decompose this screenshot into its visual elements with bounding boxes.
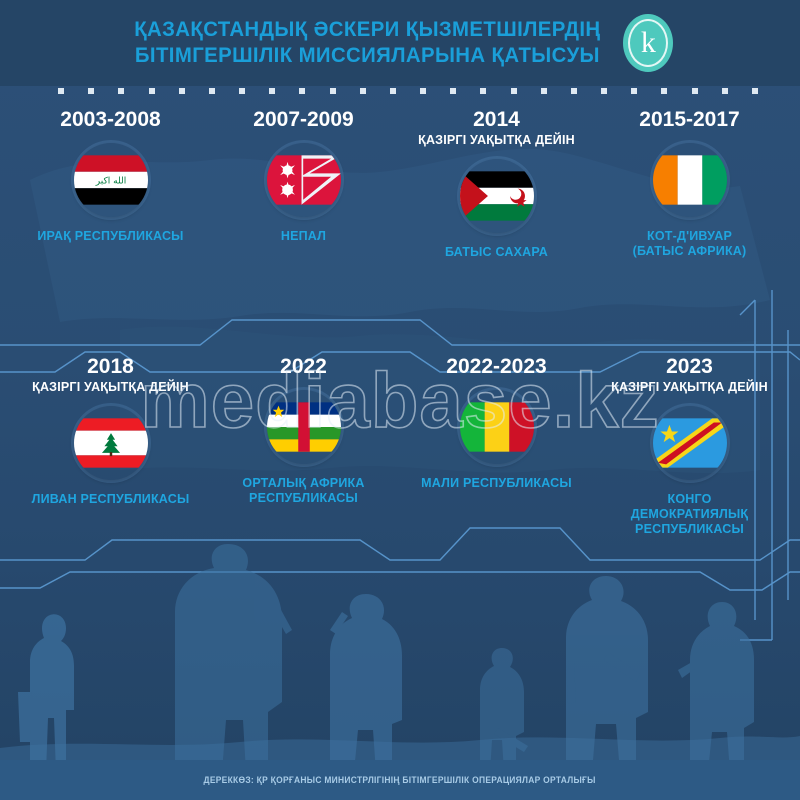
mission-card-nepal: 2007-2009 НЕПАЛ — [207, 108, 400, 260]
mission-card-central-african-republic: 2022 ОРТАЛЫҚ АФРИКА РЕСПУБЛИКАСЫ — [207, 355, 400, 537]
logo-letter: k — [641, 28, 656, 58]
dotted-divider — [58, 88, 758, 95]
mission-country: МАЛИ РЕСПУБЛИКАСЫ — [421, 476, 572, 491]
mission-years: 2014 ҚАЗІРГІ УАҚЫТҚА ДЕЙІН — [418, 108, 575, 148]
mission-years: 2007-2009 — [253, 108, 353, 132]
title-line-1: ҚАЗАҚСТАНДЫҚ ӘСКЕРИ ҚЫЗМЕТШІЛЕРДІҢ — [134, 17, 600, 43]
source-label: ДЕРЕККӨЗ: ҚР ҚОРҒАНЫС МИНИСТРЛІГІНІҢ БІТ… — [204, 775, 596, 785]
western-sahara-flag-icon — [460, 159, 534, 233]
mission-years: 2022 — [280, 355, 327, 379]
mission-card-lebanon: 2018 ҚАЗІРГІ УАҚЫТҚА ДЕЙІН ЛИВАН РЕСПУБЛ… — [14, 355, 207, 537]
mission-years: 2022-2023 — [446, 355, 546, 379]
svg-text:الله اكبر: الله اكبر — [94, 176, 125, 186]
mission-card-cote-divoire: 2015-2017 КОТ-Д'ИВУАР (БАТЫС АФРИКА) — [593, 108, 786, 260]
mission-years: 2018 ҚАЗІРГІ УАҚЫТҚА ДЕЙІН — [32, 355, 189, 395]
missions-grid: 2003-2008 الله اكبر ИРАҚ РЕСПУБЛИКАСЫ 20… — [0, 86, 800, 537]
cote-divoire-flag-icon — [653, 143, 727, 217]
mission-ongoing-note: ҚАЗІРГІ УАҚЫТҚА ДЕЙІН — [611, 379, 768, 395]
mission-ongoing-note: ҚАЗІРГІ УАҚЫТҚА ДЕЙІН — [32, 379, 189, 395]
mali-flag-icon — [460, 390, 534, 464]
mission-years: 2015-2017 — [639, 108, 739, 132]
missions-row-1: 2003-2008 الله اكبر ИРАҚ РЕСПУБЛИКАСЫ 20… — [14, 108, 786, 260]
mission-country: КОНГО ДЕМОКРАТИЯЛЫҚ РЕСПУБЛИКАСЫ — [631, 492, 749, 537]
mission-country: ИРАҚ РЕСПУБЛИКАСЫ — [37, 229, 183, 244]
dr-congo-flag-icon — [653, 406, 727, 480]
mission-card-iraq: 2003-2008 الله اكبر ИРАҚ РЕСПУБЛИКАСЫ — [14, 108, 207, 260]
mission-years: 2023 ҚАЗІРГІ УАҚЫТҚА ДЕЙІН — [611, 355, 768, 395]
mission-country: КОТ-Д'ИВУАР (БАТЫС АФРИКА) — [633, 229, 747, 259]
mission-ongoing-note: ҚАЗІРГІ УАҚЫТҚА ДЕЙІН — [418, 132, 575, 148]
mission-country: НЕПАЛ — [281, 229, 326, 244]
nepal-flag-icon — [267, 143, 341, 217]
mission-country: ОРТАЛЫҚ АФРИКА РЕСПУБЛИКАСЫ — [242, 476, 364, 506]
mission-card-mali: 2022-2023 МАЛИ РЕСПУБЛИКАСЫ — [400, 355, 593, 537]
footer-band: ДЕРЕККӨЗ: ҚР ҚОРҒАНЫС МИНИСТРЛІГІНІҢ БІТ… — [0, 760, 800, 800]
mission-country: БАТЫС САХАРА — [445, 245, 548, 260]
iraq-flag-icon: الله اكبر — [74, 143, 148, 217]
mission-years: 2003-2008 — [60, 108, 160, 132]
page-title: ҚАЗАҚСТАНДЫҚ ӘСКЕРИ ҚЫЗМЕТШІЛЕРДІҢ БІТІМ… — [127, 17, 608, 69]
mission-card-western-sahara: 2014 ҚАЗІРГІ УАҚЫТҚА ДЕЙІН БАТЫС САХАРА — [400, 108, 593, 260]
header-band: ҚАЗАҚСТАНДЫҚ ӘСКЕРИ ҚЫЗМЕТШІЛЕРДІҢ БІТІМ… — [0, 0, 800, 86]
missions-row-2: 2018 ҚАЗІРГІ УАҚЫТҚА ДЕЙІН ЛИВАН РЕСПУБЛ… — [14, 355, 786, 537]
infographic-poster: ҚАЗАҚСТАНДЫҚ ӘСКЕРИ ҚЫЗМЕТШІЛЕРДІҢ БІТІМ… — [0, 0, 800, 800]
title-line-2: БІТІМГЕРШІЛІК МИССИЯЛАРЫНА ҚАТЫСУЫ — [134, 43, 600, 69]
soldier-silhouettes — [0, 542, 800, 772]
mission-country: ЛИВАН РЕСПУБЛИКАСЫ — [32, 492, 190, 507]
mission-card-dr-congo: 2023 ҚАЗІРГІ УАҚЫТҚА ДЕЙІН КОНГО ДЕМОКРА… — [593, 355, 786, 537]
lebanon-flag-icon — [74, 406, 148, 480]
mediabase-logo-icon: k — [623, 14, 673, 72]
central-african-republic-flag-icon — [267, 390, 341, 464]
